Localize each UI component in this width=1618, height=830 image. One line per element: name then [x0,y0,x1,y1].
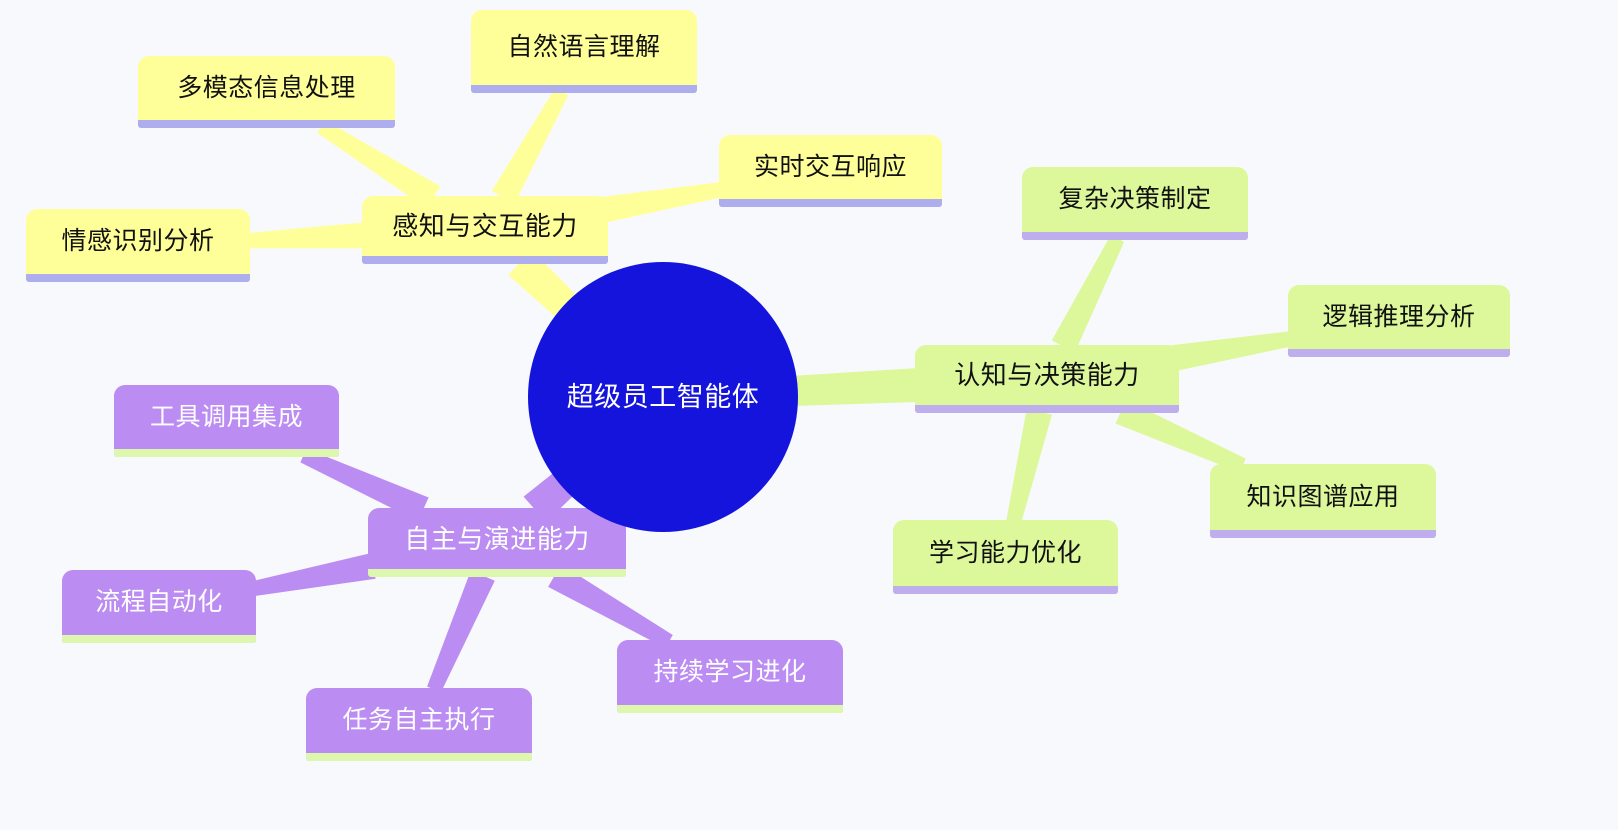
node-label: 工具调用集成 [150,405,303,430]
edge-cognition-复杂决策制定 [1052,235,1124,352]
node-label: 情感识别分析 [61,229,214,254]
node-label: 流程自动化 [95,590,223,615]
leaf-node-知识图谱应用[interactable]: 知识图谱应用 [1210,464,1436,538]
edge-autonomy-流程自动化 [251,553,376,596]
node-label: 任务自主执行 [342,708,495,733]
leaf-node-实时交互响应[interactable]: 实时交互响应 [719,135,942,207]
node-label: 多模态信息处理 [177,76,356,101]
branch-node-cognition[interactable]: 认知与决策能力 [915,345,1179,413]
node-label: 复杂决策制定 [1058,187,1211,212]
leaf-node-情感识别分析[interactable]: 情感识别分析 [26,209,250,282]
node-label: 自主与演进能力 [404,526,590,552]
node-label: 自然语言理解 [507,35,660,60]
branch-node-autonomy[interactable]: 自主与演进能力 [368,508,626,577]
edge-perception-实时交互响应 [601,182,725,223]
edge-root-cognition [791,368,921,406]
node-label: 感知与交互能力 [392,213,578,239]
leaf-node-复杂决策制定[interactable]: 复杂决策制定 [1022,167,1248,240]
node-label: 实时交互响应 [754,155,907,180]
branch-node-perception[interactable]: 感知与交互能力 [362,196,608,264]
edge-perception-情感识别分析 [245,222,367,248]
leaf-node-自然语言理解[interactable]: 自然语言理解 [471,10,697,93]
leaf-node-学习能力优化[interactable]: 学习能力优化 [893,520,1118,594]
edge-cognition-逻辑推理分析 [1172,331,1294,371]
edge-autonomy-任务自主执行 [427,570,495,692]
node-label: 逻辑推理分析 [1322,305,1475,330]
root-node[interactable]: 超级员工智能体 [528,262,798,532]
node-label: 认知与决策能力 [954,362,1140,388]
edge-perception-自然语言理解 [492,88,569,204]
leaf-node-逻辑推理分析[interactable]: 逻辑推理分析 [1288,285,1510,357]
leaf-node-持续学习进化[interactable]: 持续学习进化 [617,640,843,713]
leaf-node-工具调用集成[interactable]: 工具调用集成 [114,385,339,457]
leaf-node-多模态信息处理[interactable]: 多模态信息处理 [138,56,395,128]
node-label: 知识图谱应用 [1246,485,1399,510]
root-label: 超级员工智能体 [567,384,760,411]
node-label: 持续学习进化 [653,660,806,685]
leaf-node-流程自动化[interactable]: 流程自动化 [62,570,256,643]
edge-cognition-学习能力优化 [1006,409,1052,523]
mindmap-canvas: 感知与交互能力多模态信息处理自然语言理解实时交互响应情感识别分析认知与决策能力复… [0,0,1618,830]
node-label: 学习能力优化 [929,541,1082,566]
leaf-node-任务自主执行[interactable]: 任务自主执行 [306,688,532,761]
